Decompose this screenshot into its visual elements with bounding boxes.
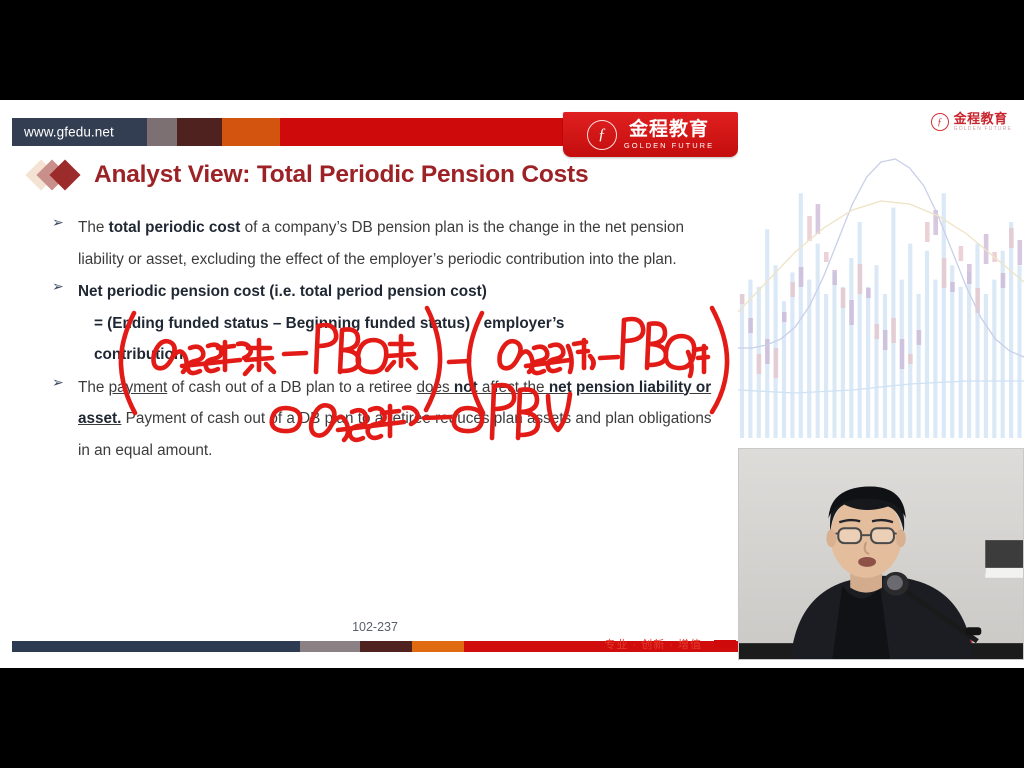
diamond-bullet-icon (30, 160, 82, 190)
corner-brand-logo: ƒ 金程教育 GOLDEN FUTURE (931, 112, 1012, 132)
brand-logo-plate: ƒ 金程教育 GOLDEN FUTURE (563, 112, 738, 157)
corner-brand-name-cn: 金程教育 (954, 112, 1012, 125)
presentation-slide: www.gfedu.net ƒ 金程教育 GOLDEN FUTURE (12, 108, 738, 660)
page-title: Analyst View: Total Periodic Pension Cos… (94, 161, 588, 189)
decorative-stock-chart (738, 138, 1024, 438)
corner-brand-name-en: GOLDEN FUTURE (954, 127, 1012, 132)
video-player-screen: www.gfedu.net ƒ 金程教育 GOLDEN FUTURE (0, 0, 1024, 768)
bullet-net-periodic-pension-cost: ➢ Net periodic pension cost (i.e. total … (52, 276, 712, 371)
footer-segment-navy (12, 641, 300, 652)
header-segment-orange (222, 118, 280, 146)
bullet-total-periodic-cost: ➢ The total periodic cost of a company’s… (52, 212, 712, 275)
arrow-bullet-icon: ➢ (52, 372, 78, 467)
slide-title-row: Analyst View: Total Periodic Pension Cos… (30, 160, 588, 190)
bullet-text-3: The payment of cash out of a DB plan to … (78, 372, 712, 467)
arrow-bullet-icon: ➢ (52, 212, 78, 275)
page-number: 102-237 (12, 620, 738, 634)
brand-seal-icon: ƒ (587, 120, 617, 150)
instructor-webcam-feed[interactable] (738, 448, 1024, 660)
header-segment-navy: www.gfedu.net (12, 118, 147, 146)
footer-tagline-cap (714, 640, 736, 648)
bullet-text-1: The total periodic cost of a company’s D… (78, 212, 712, 275)
header-segment-gray (147, 118, 177, 146)
arrow-bullet-icon: ➢ (52, 276, 78, 371)
bullet-payment-of-cash: ➢ The payment of cash out of a DB plan t… (52, 372, 712, 467)
chart-watermark-panel: ƒ 金程教育 GOLDEN FUTURE (738, 108, 1024, 443)
site-url-label: www.gfedu.net (24, 125, 114, 140)
bullet-text-2: Net periodic pension cost (i.e. total pe… (78, 276, 564, 371)
footer-segment-gray (300, 641, 360, 652)
footer-segment-maroon (360, 641, 412, 652)
corner-seal-icon: ƒ (931, 113, 949, 131)
brand-logo-text: 金程教育 GOLDEN FUTURE (624, 120, 714, 150)
footer-segment-orange (412, 641, 464, 652)
brand-name-en: GOLDEN FUTURE (624, 142, 714, 150)
brand-name-cn: 金程教育 (629, 120, 709, 139)
footer-tagline: 专业 · 创新 · 增值 (604, 636, 702, 652)
video-content-area: www.gfedu.net ƒ 金程教育 GOLDEN FUTURE (0, 100, 1024, 668)
slide-body: ➢ The total periodic cost of a company’s… (52, 212, 712, 469)
header-segment-maroon (177, 118, 222, 146)
